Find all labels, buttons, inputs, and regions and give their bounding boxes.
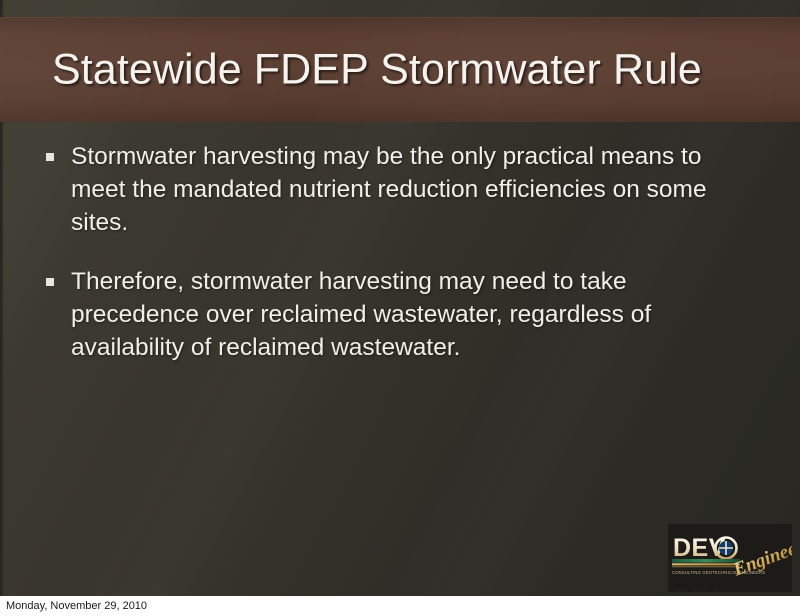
logo-wordmark: DEV <box>673 534 726 562</box>
footer-bar: Monday, November 29, 2010 <box>0 596 800 616</box>
logo-reflection: DEV <box>673 582 725 592</box>
slide-title: Statewide FDEP Stormwater Rule <box>52 47 702 92</box>
logo-bar-shadow <box>672 566 740 567</box>
svg-text:DEV: DEV <box>673 582 725 592</box>
slide-body: Stormwater harvesting may be the only pr… <box>46 140 752 390</box>
presentation-slide: Statewide FDEP Stormwater Rule Stormwate… <box>0 0 800 616</box>
bullet-item: Therefore, stormwater harvesting may nee… <box>46 265 752 364</box>
square-bullet-icon <box>46 153 54 161</box>
square-bullet-icon <box>46 278 54 286</box>
footer-date: Monday, November 29, 2010 <box>6 599 147 613</box>
devo-engineering-logo: DEV CONSULTING GEOTECHNICAL ENGINEERS <box>668 524 792 592</box>
slide-canvas: Statewide FDEP Stormwater Rule Stormwate… <box>0 0 800 596</box>
bullet-text: Therefore, stormwater harvesting may nee… <box>71 265 752 364</box>
bullet-item: Stormwater harvesting may be the only pr… <box>46 140 752 239</box>
logo-bar-gold <box>672 563 740 565</box>
title-banner: Statewide FDEP Stormwater Rule <box>0 17 800 122</box>
logo-artwork: DEV CONSULTING GEOTECHNICAL ENGINEERS <box>668 524 792 592</box>
bullet-text: Stormwater harvesting may be the only pr… <box>71 140 752 239</box>
